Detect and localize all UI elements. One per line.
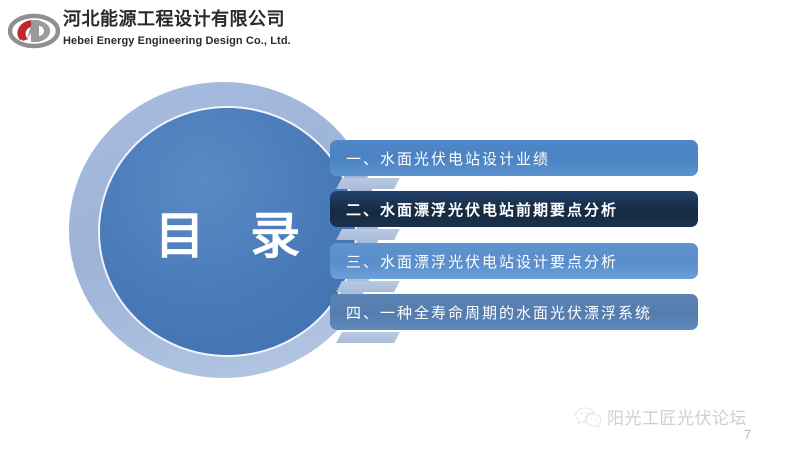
slide-header: 河北能源工程设计有限公司 Hebei Energy Engineering De… <box>0 0 800 62</box>
connector-tab-1 <box>336 178 400 189</box>
company-name-en: Hebei Energy Engineering Design Co., Ltd… <box>63 33 291 49</box>
page-title: 目 录 <box>100 108 355 355</box>
toc-item-1[interactable]: 一、水面光伏电站设计业绩 <box>330 140 698 176</box>
watermark-text: 阳光工匠光伏论坛 <box>607 404 747 429</box>
connector-tab-4 <box>336 332 400 343</box>
company-name-cn: 河北能源工程设计有限公司 <box>63 9 291 31</box>
page-number: 7 <box>744 427 751 442</box>
toc-item-4[interactable]: 四、一种全寿命周期的水面光伏漂浮系统 <box>330 294 698 330</box>
company-name-block: 河北能源工程设计有限公司 Hebei Energy Engineering De… <box>63 9 291 49</box>
wechat-icon <box>575 406 601 428</box>
slide-canvas: 河北能源工程设计有限公司 Hebei Energy Engineering De… <box>0 0 800 450</box>
watermark: 阳光工匠光伏论坛 <box>575 404 747 429</box>
company-d-swoosh-logo <box>8 10 60 52</box>
toc-item-3[interactable]: 三、水面漂浮光伏电站设计要点分析 <box>330 243 698 279</box>
connector-tab-2 <box>336 229 400 240</box>
connector-tab-3 <box>336 281 400 292</box>
toc-item-2-active[interactable]: 二、水面漂浮光伏电站前期要点分析 <box>330 191 698 227</box>
